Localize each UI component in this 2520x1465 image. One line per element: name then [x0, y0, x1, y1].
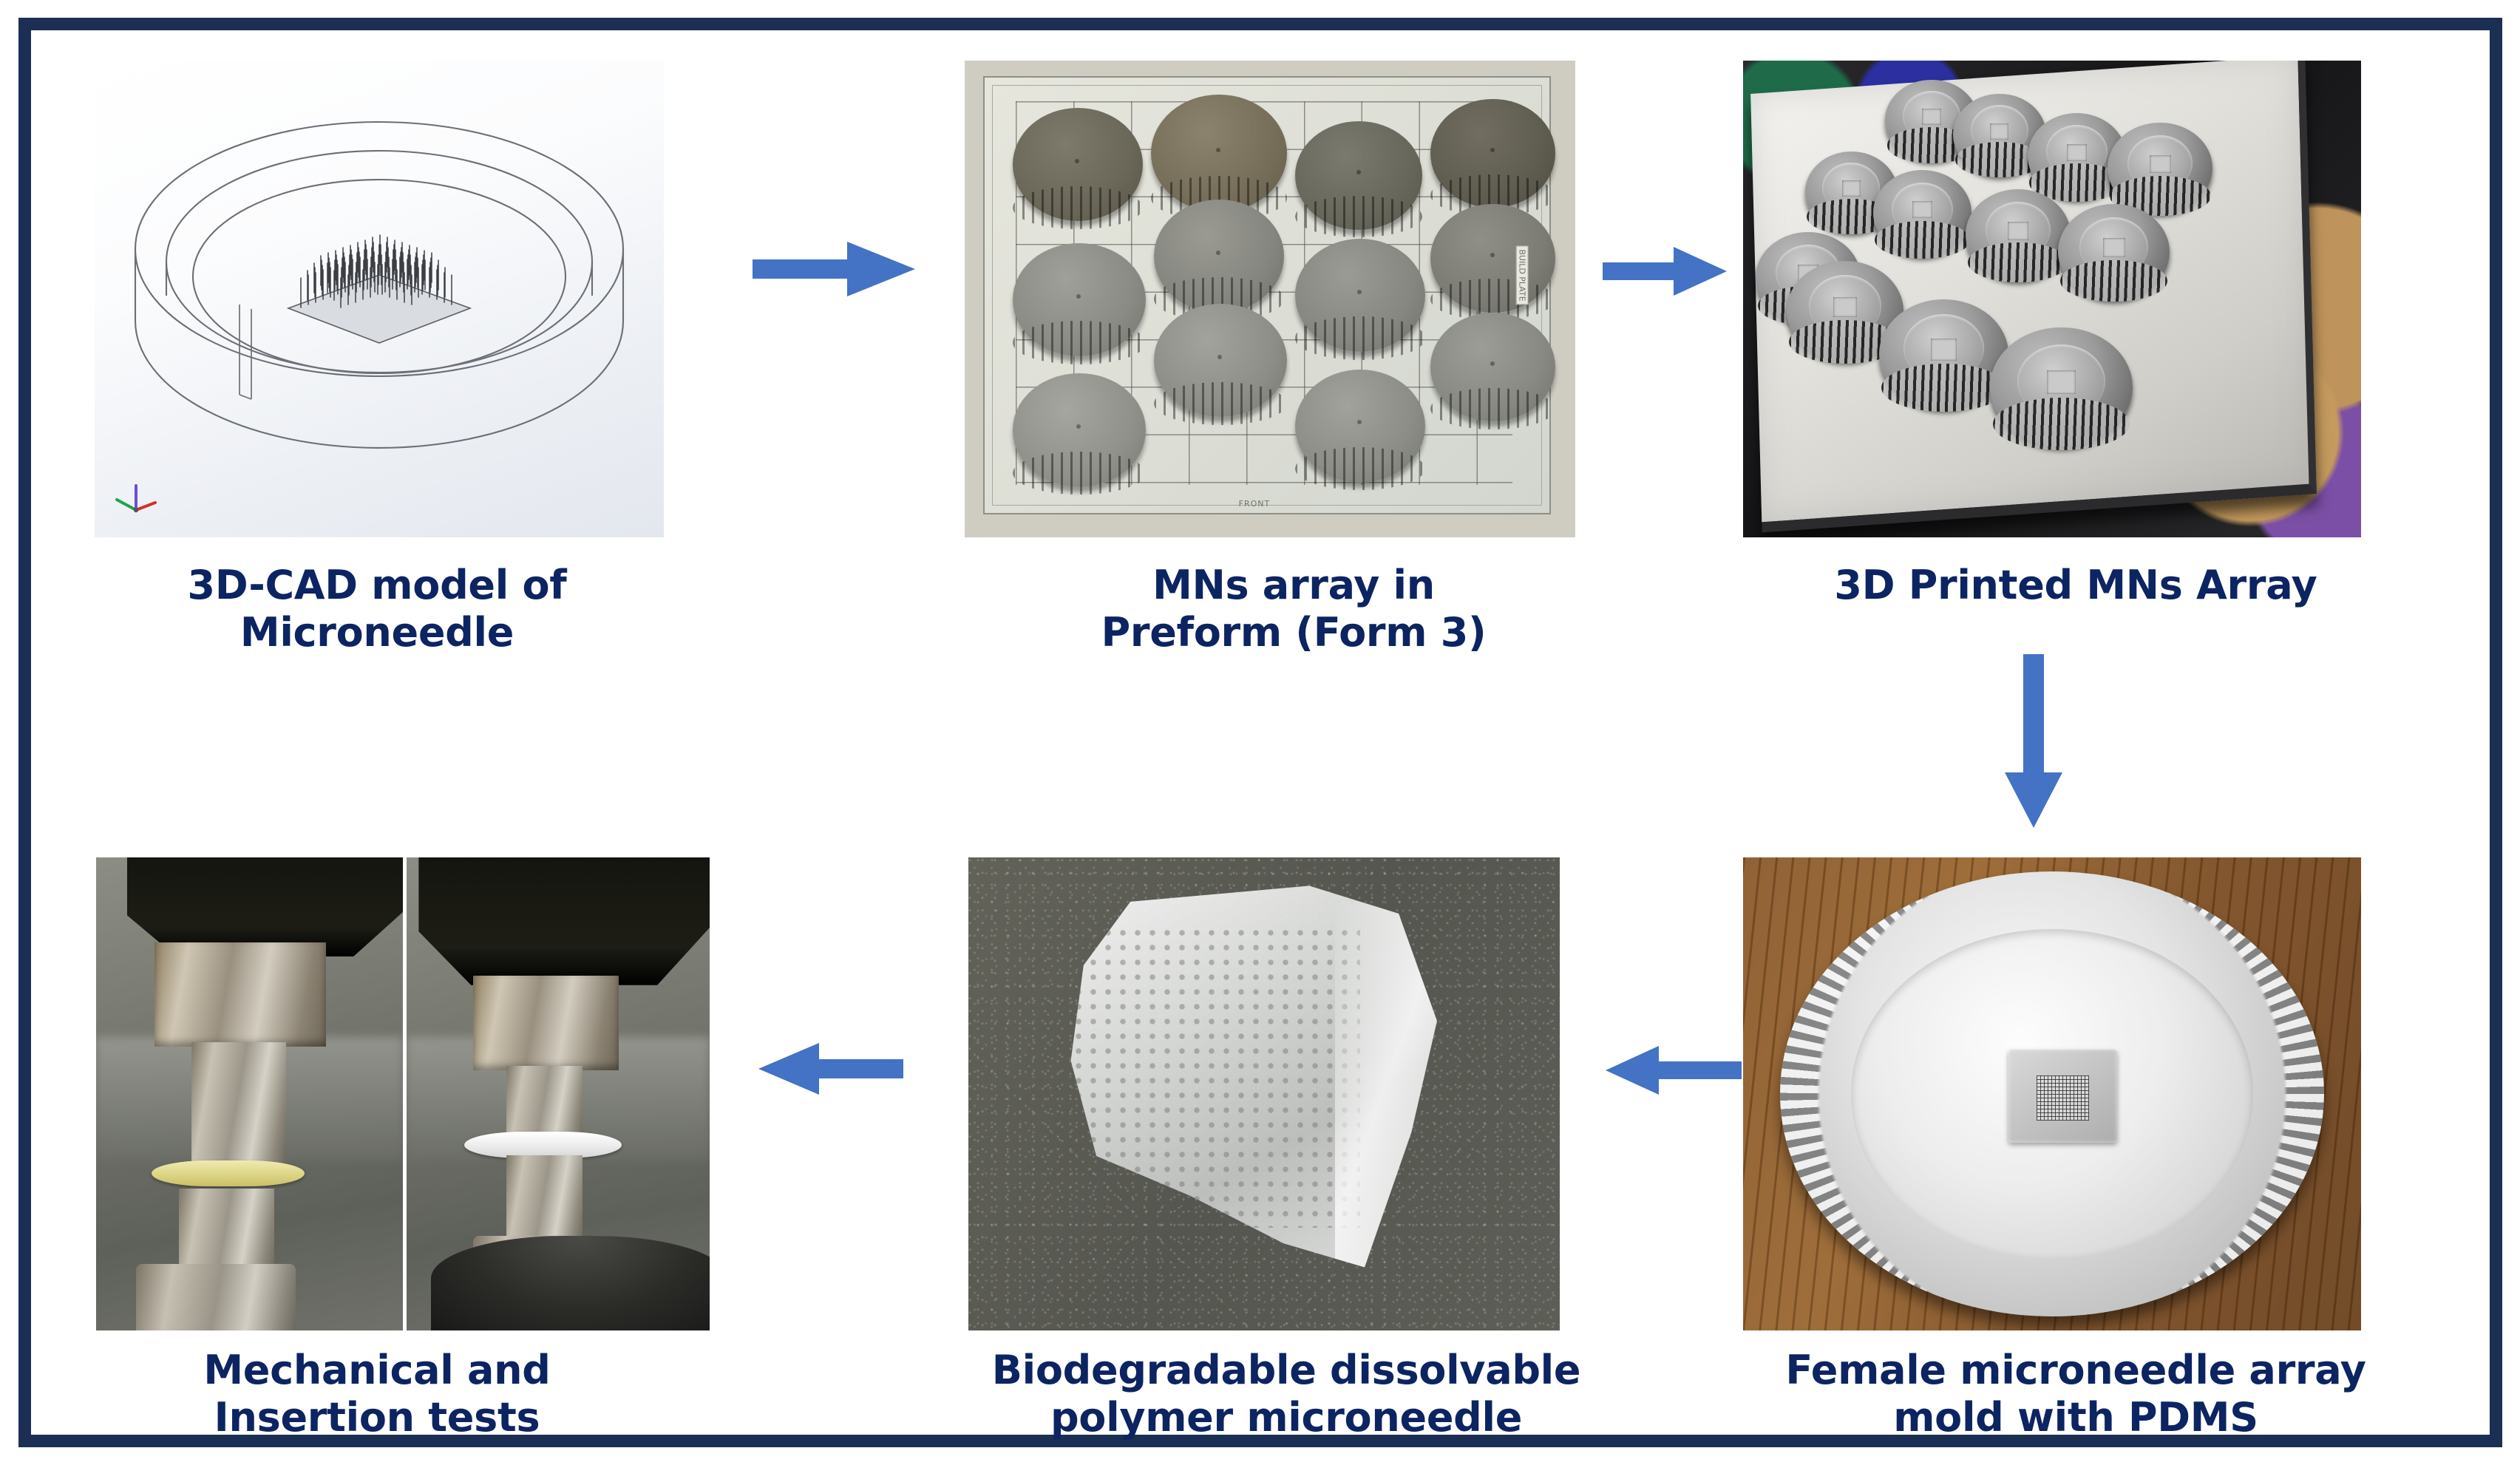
step-caption-4: Female microneedle array mold with PDMS	[1728, 1347, 2423, 1441]
cad-model-image	[95, 61, 664, 537]
preform-part	[1430, 204, 1555, 313]
preform-part	[1154, 304, 1287, 417]
step-caption-5: Biodegradable dissolvable polymer micron…	[931, 1347, 1641, 1441]
step-panel-1: 3D-CAD model of Microneedle	[44, 44, 710, 658]
step-panel-6: Mechanical and Insertion tests	[44, 857, 710, 1419]
preform-part	[1430, 99, 1555, 208]
preform-part	[1295, 121, 1422, 230]
arrow-left-icon-5	[758, 1041, 903, 1097]
build-plate-side-label: BUILD PLATE	[1516, 245, 1529, 305]
microneedle-patch-specimen	[152, 1160, 305, 1187]
printed-array-photo	[1743, 61, 2361, 537]
lower-platen-base	[136, 1264, 296, 1330]
step-panel-5: Biodegradable dissolvable polymer micron…	[954, 857, 1619, 1419]
foil-dish	[1780, 871, 2324, 1316]
preform-part	[1013, 373, 1146, 486]
preform-screenshot-image: BUILD PLATE FRONT	[965, 61, 1575, 537]
upper-platen-collar	[473, 976, 619, 1070]
lower-platen-shaft	[506, 1155, 583, 1245]
printed-part	[1966, 189, 2071, 280]
figure-root: 3D-CAD model of Microneedle	[0, 0, 2520, 1465]
mechanical-test-photos	[96, 857, 710, 1330]
pdms-mold-photo	[1743, 857, 2361, 1330]
step-caption-1: 3D-CAD model of Microneedle	[44, 562, 710, 656]
microneedle-cavity-mesh	[2037, 1075, 2089, 1121]
step-panel-3: 3D Printed MNs Array	[1743, 44, 2408, 658]
printed-part	[2108, 123, 2212, 214]
upper-platen-shaft	[191, 1042, 287, 1165]
polymer-microneedle-photo	[968, 857, 1560, 1330]
microneedle-patch-specimen	[464, 1132, 622, 1158]
step-panel-4: Female microneedle array mold with PDMS	[1743, 857, 2408, 1419]
printed-part	[1879, 299, 2009, 409]
preform-part	[1295, 239, 1425, 352]
mechanical-test-photo-left	[96, 857, 403, 1330]
printed-part	[1873, 170, 1972, 256]
arrow-right-icon-1	[753, 240, 915, 298]
printed-part	[2058, 204, 2169, 299]
preform-part	[1154, 200, 1284, 313]
microneedle-array-glyph	[288, 235, 470, 343]
mechanical-test-photo-right	[403, 857, 710, 1330]
upper-grip-housing	[418, 857, 710, 985]
preform-part	[1151, 95, 1286, 212]
step-panel-2: BUILD PLATE FRONT MNs array in Preform (…	[961, 44, 1626, 658]
arrow-right-icon-2	[1603, 245, 1727, 297]
arrow-down-icon-3	[2003, 654, 2064, 828]
upper-platen-collar	[154, 942, 326, 1047]
arrow-left-icon-4	[1606, 1044, 1742, 1097]
preform-part	[1013, 108, 1143, 221]
build-plate-front-label: FRONT	[1239, 499, 1271, 509]
preform-part	[1295, 370, 1425, 483]
preform-part	[1013, 243, 1146, 356]
load-cell-housing	[431, 1236, 710, 1330]
step-caption-2: MNs array in Preform (Form 3)	[961, 562, 1626, 656]
step-caption-3: 3D Printed MNs Array	[1743, 562, 2408, 609]
build-plate: BUILD PLATE FRONT	[983, 76, 1551, 514]
step-caption-6: Mechanical and Insertion tests	[44, 1347, 710, 1441]
printed-part	[1990, 327, 2132, 446]
pdms-negative-mold	[2008, 1050, 2117, 1143]
axis-triad-icon	[117, 486, 155, 512]
preform-part	[1430, 313, 1555, 421]
